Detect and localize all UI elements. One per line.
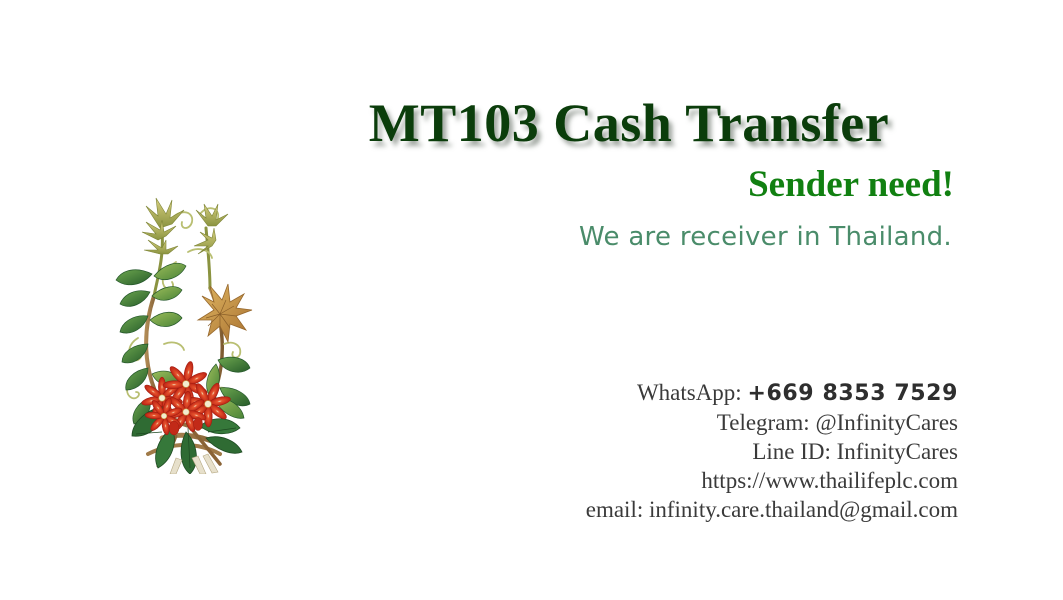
contact-label-lineid: Line ID: [752,439,831,464]
botanical-floral-wreath-illustration [102,192,262,474]
olive-foliage-top [142,198,184,254]
contact-line-telegram: Telegram: @InfinityCares [420,408,958,437]
contact-line-email: email: infinity.care.thailand@gmail.com [420,495,958,524]
contact-line-website: https://www.thailifeplc.com [420,466,958,495]
contact-label-email: email: [586,497,643,522]
business-card-canvas: MT103 Cash Transfer Sender need! We are … [0,0,1063,600]
contact-value-telegram[interactable]: @InfinityCares [815,410,958,435]
tagline: We are receiver in Thailand. [300,222,958,253]
tan-maple-leaf [198,284,252,342]
contact-value-lineid[interactable]: InfinityCares [837,439,958,464]
headline-block: MT103 Cash Transfer Sender need! We are … [300,96,958,253]
contact-details-block: WhatsApp: +669 8353 7529 Telegram: @Infi… [420,378,958,524]
contact-value-email[interactable]: infinity.care.thailand@gmail.com [649,497,958,522]
page-title: MT103 Cash Transfer [300,96,958,151]
contact-line-lineid: Line ID: InfinityCares [420,437,958,466]
olive-foliage-top-right [194,204,228,254]
contact-label-whatsapp: WhatsApp: [637,380,742,405]
subtitle: Sender need! [300,165,958,206]
contact-value-website[interactable]: https://www.thailifeplc.com [701,468,958,493]
contact-value-whatsapp[interactable]: +669 8353 7529 [747,381,958,406]
contact-label-telegram: Telegram: [717,410,810,435]
contact-line-whatsapp: WhatsApp: +669 8353 7529 [420,378,958,408]
